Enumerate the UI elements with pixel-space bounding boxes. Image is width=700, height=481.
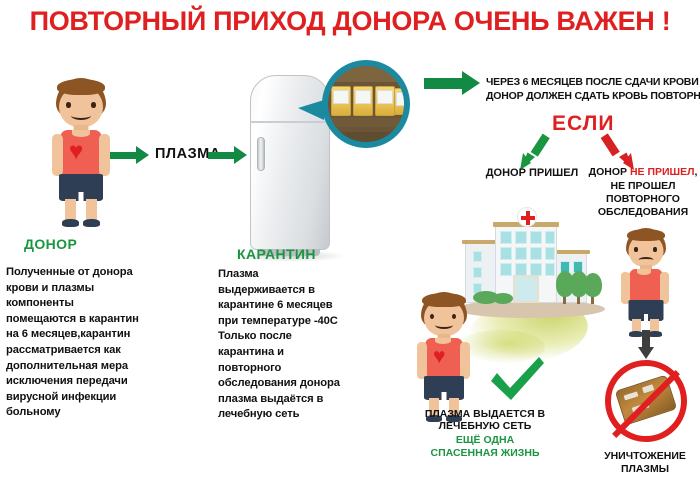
callout-tail [298, 100, 324, 120]
shorts-gap [644, 314, 648, 322]
text-line: помещаются в карантин [6, 312, 156, 328]
smile-icon [435, 321, 453, 329]
branch-no-prefix: ДОНОР [589, 166, 630, 178]
arm-left [52, 134, 63, 176]
prohibition-icon [605, 360, 687, 442]
outcome-no-line2: ПЛАЗМЫ [590, 463, 700, 476]
page-title: ПОВТОРНЫЙ ПРИХОД ДОНОРА ОЧЕНЬ ВАЖЕН ! [0, 6, 700, 37]
fringe-icon [422, 293, 466, 307]
text-line: на 6 месяцев,карантин [6, 327, 156, 343]
hospital-roofbar-right [552, 250, 590, 254]
text-line: карантине 6 месяцев [218, 298, 343, 314]
branch-no-label-line1: ДОНОР НЕ ПРИШЕЛ, [586, 166, 700, 180]
quarantine-label: КАРАНТИН [237, 246, 316, 262]
eye-right-icon [653, 247, 657, 252]
frown-icon [639, 257, 654, 263]
heart-icon: ♥ [69, 140, 83, 164]
text-line: больному [6, 405, 156, 421]
rejected-donor-figure [608, 228, 684, 336]
shoe-left [62, 219, 79, 227]
donor-description: Полученные от доноракрови и плазмыкомпон… [6, 265, 156, 421]
bush [493, 293, 513, 304]
text-line: рассматривается как [6, 343, 156, 359]
eye-left-icon [66, 102, 71, 108]
donor-label: ДОНОР [24, 236, 77, 252]
shoe-right [83, 219, 100, 227]
six-months-line2: ДОНОР ДОЛЖЕН СДАТЬ КРОВЬ ПОВТОРНО [486, 90, 700, 102]
infographic-page: ПОВТОРНЫЙ ПРИХОД ДОНОРА ОЧЕНЬ ВАЖЕН ! ♥ … [0, 0, 700, 481]
text-line: при температуре -40С [218, 314, 343, 330]
hospital-entrance [513, 275, 539, 303]
text-line: Полученные от донора [6, 265, 156, 281]
recipient-figure: ♥ [405, 292, 483, 422]
text-line: повторного [218, 361, 343, 377]
text-line: выдерживается в [218, 283, 343, 299]
magnifier-callout-icon [322, 60, 410, 148]
fridge-handle [257, 137, 265, 171]
text-line: лечебную сеть [218, 407, 343, 423]
fringe-icon [57, 79, 105, 95]
leg-left [65, 199, 76, 221]
arm-right [460, 342, 470, 379]
eye-right-icon [91, 102, 96, 108]
quarantine-description: Плазмавыдерживается вкарантине 6 месяцев… [218, 267, 343, 423]
branch-no-suffix: , [694, 166, 697, 178]
fridge-door-seam [250, 121, 330, 123]
outcome-yes-line2: ЛЕЧЕБНУЮ СЕТЬ [385, 420, 585, 433]
text-line: обследования донора [218, 376, 343, 392]
text-line: вирусной инфекции [6, 390, 156, 406]
outcome-no-line1: УНИЧТОЖЕНИЕ [590, 450, 700, 463]
six-months-arrow [424, 71, 482, 95]
branch-no-line3: ПОВТОРНОГО [586, 193, 700, 207]
plasma-arrow-right [208, 146, 248, 164]
shirt-neckline [72, 130, 90, 137]
text-line: Только после [218, 329, 343, 345]
shirt-neckline [435, 338, 451, 344]
text-line: Плазма [218, 267, 343, 283]
down-arrow-icon [638, 330, 654, 360]
arm-right [99, 134, 110, 176]
red-cross-icon [517, 207, 537, 227]
eye-left-icon [634, 247, 638, 252]
branch-no-red: НЕ ПРИШЕЛ [630, 166, 695, 178]
plasma-arrow-left [110, 146, 150, 164]
outcome-yes-green-line2: СПАСЕННАЯ ЖИЗНЬ [385, 447, 585, 460]
donor-figure: ♥ [42, 78, 120, 228]
arm-left [417, 342, 427, 379]
text-line: дополнительная мера [6, 359, 156, 375]
fringe-icon [627, 229, 665, 241]
plasma-shelf-photo [328, 66, 404, 142]
text-line: исключения передачи [6, 374, 156, 390]
text-line: крови и плазмы [6, 281, 156, 297]
branch-no-line2: НЕ ПРОШЕЛ [586, 180, 700, 194]
text-line: карантина и [218, 345, 343, 361]
outcome-yes-green-line1: ЕЩЁ ОДНА [385, 434, 585, 447]
eye-right-icon [452, 314, 456, 319]
smile-icon [71, 111, 91, 120]
heart-icon: ♥ [433, 346, 445, 367]
branch-yes-label: ДОНОР ПРИШЕЛ [472, 166, 592, 180]
shorts-gap [442, 392, 447, 401]
eye-left-icon [430, 314, 434, 319]
six-months-line1: ЧЕРЕЗ 6 МЕСЯЦЕВ ПОСЛЕ СДАЧИ КРОВИ [486, 76, 699, 88]
shorts-gap [79, 192, 84, 202]
text-line: компоненты [6, 296, 156, 312]
leg-right [86, 199, 97, 221]
text-line: плазма выдаётся в [218, 392, 343, 408]
green-check-icon [487, 355, 547, 407]
shirt-neckline [637, 269, 651, 275]
tree [584, 273, 602, 297]
